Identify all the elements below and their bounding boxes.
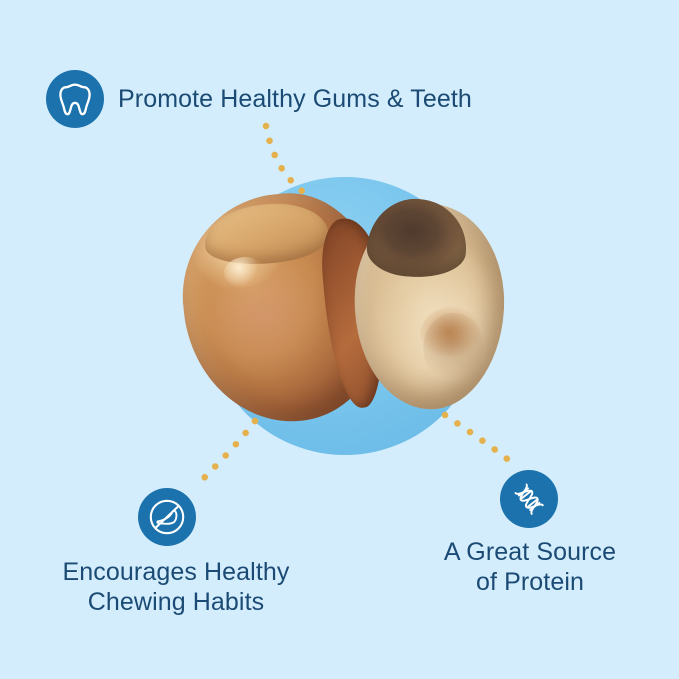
label-chewing-habits: Encourages Healthy Chewing Habits — [0, 558, 352, 617]
chew-treat-photo — [176, 188, 498, 428]
infographic-canvas: Promote Healthy Gums & Teeth Encourages … — [0, 0, 679, 679]
tooth-icon — [58, 81, 92, 117]
no-shoe-chewing-icon — [146, 496, 188, 538]
dna-helix-icon — [511, 481, 547, 517]
chew-piece-cream-streak — [420, 306, 490, 364]
connector-to-chewing — [199, 421, 255, 483]
badge-healthy-teeth[interactable] — [46, 70, 104, 128]
badge-chewing-habits[interactable] — [138, 488, 196, 546]
badge-protein-source[interactable] — [500, 470, 558, 528]
label-protein-source: A Great Source of Protein — [400, 538, 660, 597]
label-healthy-teeth: Promote Healthy Gums & Teeth — [118, 85, 472, 115]
